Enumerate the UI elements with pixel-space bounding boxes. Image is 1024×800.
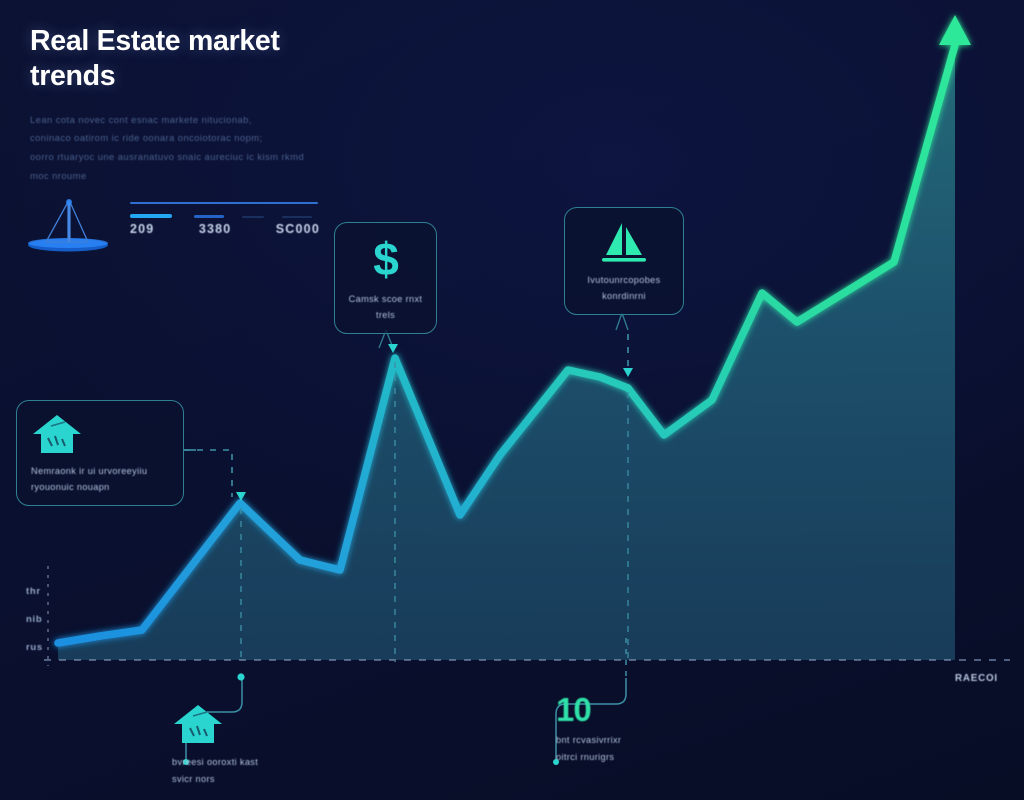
legend-bar-1 [130, 214, 172, 218]
connector-house-left [184, 450, 246, 501]
caption-line: ryouonuic nouapn [31, 479, 173, 495]
y-axis-tick: nib [26, 606, 60, 634]
legend-number: 3380 [199, 222, 232, 236]
sailboat-icon [22, 196, 122, 252]
callout-caption: Ivutounrcopobes konrdinrni [575, 272, 673, 304]
caption-line: oitrci rnurigrs [556, 749, 726, 766]
legend-strip: 209 3380 SC000 [22, 196, 322, 252]
caption-line: Camsk scoe rnxt [345, 291, 426, 307]
callout-house-left[interactable]: Nemraonk ir ui urvoreeyiiu ryouonuic nou… [16, 400, 184, 506]
legend-bar-3 [242, 216, 264, 218]
y-axis-tick: rus [26, 634, 60, 662]
sailboat-icon [575, 219, 673, 265]
caption-line: svicr nors [172, 771, 332, 788]
callout-caption: bvreesi ooroxti kast svicr nors [172, 754, 332, 787]
subtitle-line: coninaco oatirom ic ride oonara oncoioto… [30, 129, 302, 148]
legend-number: SC000 [276, 222, 320, 236]
callout-caption: Nemraonk ir ui urvoreeyiiu ryouonuic nou… [31, 463, 173, 495]
callout-dollar[interactable]: $ Camsk scoe rnxt trels [334, 222, 437, 334]
subtitle-line: oorro rtuaryoc une ausranatuvo snaic aur… [30, 148, 302, 167]
y-axis-labels: thr nib rus [26, 578, 60, 662]
legend-bar-2 [194, 215, 224, 218]
callout-boat[interactable]: Ivutounrcopobes konrdinrni [564, 207, 684, 315]
subtitle-line: Lean cota novec cont esnac markete nituc… [30, 111, 302, 130]
page-title: Real Estate market trends [30, 24, 290, 95]
header-block: Real Estate market trends Lean cota nove… [30, 24, 360, 186]
infographic-canvas: Real Estate market trends Lean cota nove… [0, 0, 1024, 800]
svg-text:$: $ [373, 234, 399, 284]
legend-bar-4 [282, 216, 312, 218]
legend-rule-full [130, 202, 318, 204]
trend-arrow-icon [939, 15, 971, 45]
caption-line: trels [345, 307, 426, 323]
legend-numbers: 209 3380 SC000 [130, 222, 320, 236]
house-icon [172, 702, 332, 746]
caption-line: bnt rcvasivrrixr [556, 732, 726, 749]
legend-bars: 209 3380 SC000 [130, 196, 320, 252]
callout-caption: bnt rcvasivrrixr oitrci rnurigrs [556, 732, 726, 765]
connector-boat [616, 313, 633, 377]
dollar-sign-icon: $ [345, 234, 426, 284]
house-icon [31, 412, 173, 456]
caption-line: konrdinrni [575, 288, 673, 304]
y-axis-tick: thr [26, 578, 60, 606]
callout-caption: Camsk scoe rnxt trels [345, 291, 426, 323]
caption-line: Ivutounrcopobes [575, 272, 673, 288]
legend-number: 209 [130, 222, 154, 236]
subtitle-paragraph: Lean cota novec cont esnac markete nituc… [30, 111, 302, 186]
caption-line: Nemraonk ir ui urvoreeyiiu [31, 463, 173, 479]
x-axis-end-label: RAECOI [955, 673, 998, 684]
callout-house-bottom[interactable]: bvreesi ooroxti kast svicr nors [172, 702, 332, 787]
caption-line: bvreesi ooroxti kast [172, 754, 332, 771]
number-badge: 10 [556, 694, 726, 725]
subtitle-line: moc nroume [30, 167, 302, 186]
callout-number-bottom[interactable]: 10 bnt rcvasivrrixr oitrci rnurigrs [556, 694, 726, 765]
